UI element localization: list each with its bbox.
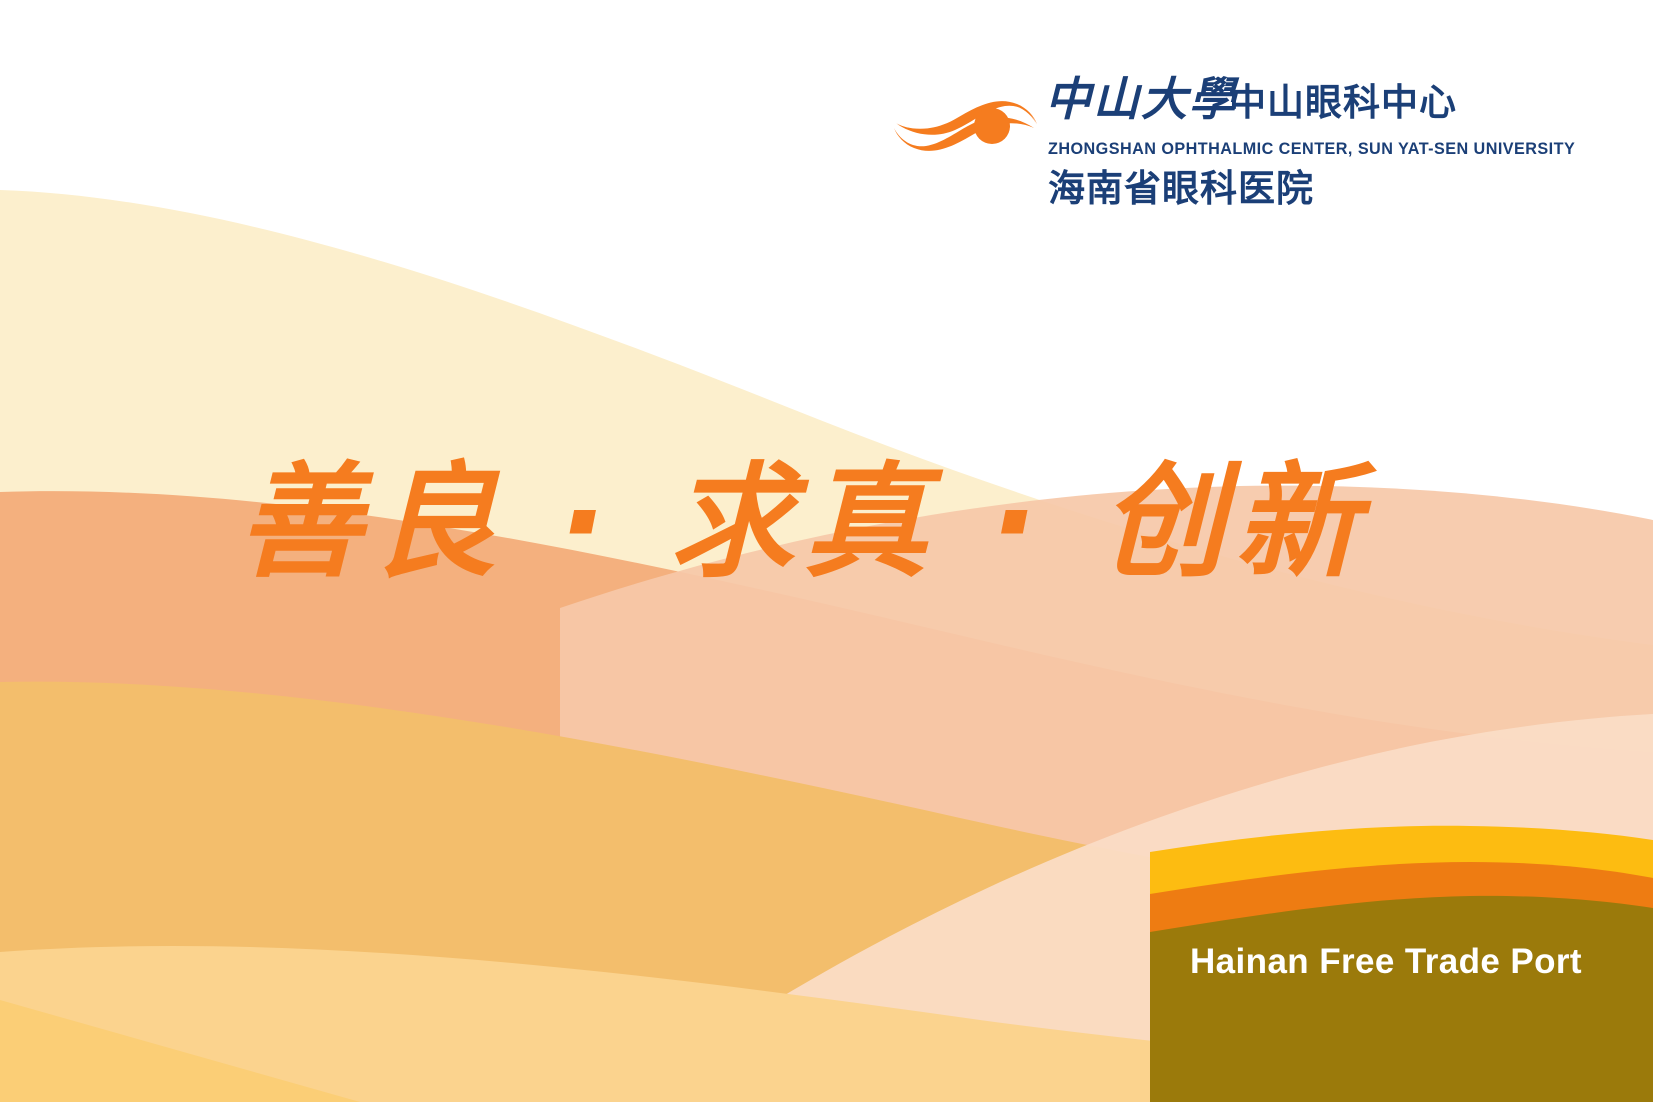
logo-primary-line: 中山大學 中山眼科中心 bbox=[1045, 78, 1465, 136]
slide-canvas: 中山大學 中山眼科中心 ZHONGSHAN OPHTHALMIC CENTER,… bbox=[0, 0, 1653, 1102]
slide-slogan: 善良 · 求真 · 创新 bbox=[238, 455, 1338, 591]
logo-center-name: 中山眼科中心 bbox=[1229, 84, 1457, 121]
logo-university-name: 中山大學 bbox=[1045, 76, 1237, 122]
eye-logo-icon bbox=[893, 90, 1038, 162]
footer-block-olive bbox=[1150, 896, 1653, 1102]
footer-caption-text: Hainan Free Trade Port bbox=[1190, 942, 1582, 982]
logo-english-name: ZHONGSHAN OPHTHALMIC CENTER, SUN YAT-SEN… bbox=[1048, 140, 1575, 159]
logo-hospital-name: 海南省眼科医院 bbox=[1048, 170, 1314, 207]
hospital-logo: 中山大學 中山眼科中心 ZHONGSHAN OPHTHALMIC CENTER,… bbox=[893, 78, 1473, 218]
